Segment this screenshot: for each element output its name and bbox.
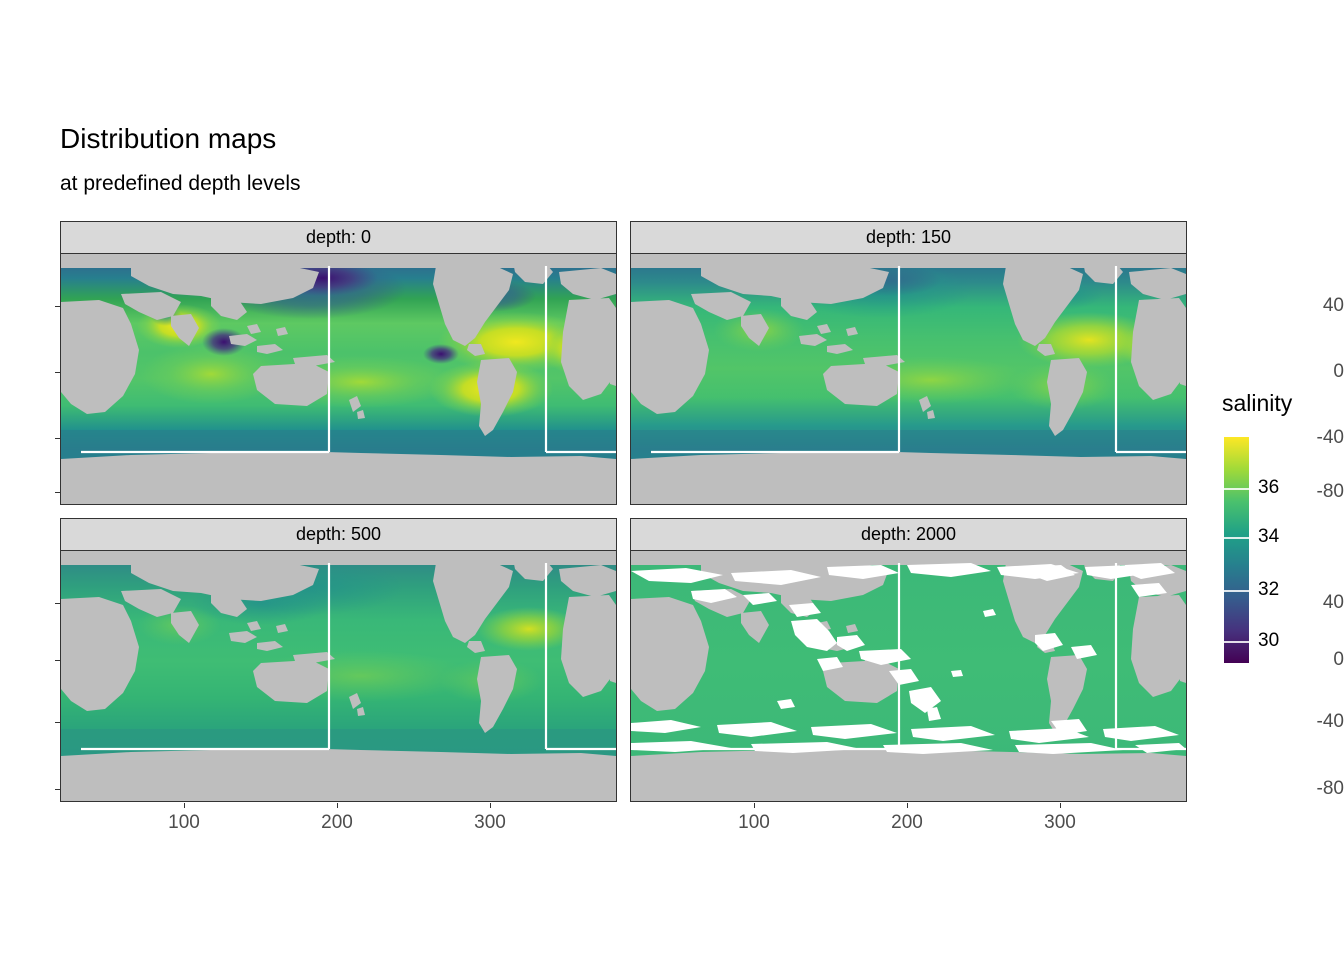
facet-panel-depth-2000: depth: 2000 xyxy=(630,518,1187,802)
page-title: Distribution maps xyxy=(60,125,276,153)
map-canvas-depth-0[interactable] xyxy=(60,254,617,505)
facet-strip-depth-150: depth: 150 xyxy=(630,221,1187,254)
y-tick-label: 0 xyxy=(1294,361,1344,383)
facet-strip-depth-2000: depth: 2000 xyxy=(630,518,1187,551)
y-tick-label: 0 xyxy=(1294,649,1344,671)
x-tick-mark xyxy=(1060,803,1061,808)
map-canvas-depth-2000[interactable] xyxy=(630,551,1187,802)
y-tick-label: 40 xyxy=(1294,592,1344,614)
legend-title: salinity xyxy=(1222,390,1292,417)
map-canvas-depth-500[interactable] xyxy=(60,551,617,802)
facet-strip-label: depth: 0 xyxy=(306,227,371,248)
x-tick-label: 100 xyxy=(738,812,770,834)
y-tick-label: 40 xyxy=(1294,295,1344,317)
legend-tick-label: 36 xyxy=(1258,477,1279,499)
y-tick-mark xyxy=(55,603,60,604)
x-tick-label: 100 xyxy=(168,812,200,834)
facet-strip-depth-0: depth: 0 xyxy=(60,221,617,254)
legend-tick-mark xyxy=(1224,537,1249,539)
y-tick-label: -80 xyxy=(1294,778,1344,800)
y-tick-mark xyxy=(55,660,60,661)
map-canvas-depth-150[interactable] xyxy=(630,254,1187,505)
map-svg-depth-2000 xyxy=(631,551,1186,800)
x-tick-mark xyxy=(754,803,755,808)
legend-tick-label: 32 xyxy=(1258,579,1279,601)
x-tick-label: 300 xyxy=(474,812,506,834)
x-tick-label: 200 xyxy=(891,812,923,834)
facet-strip-label: depth: 2000 xyxy=(861,524,956,545)
y-tick-label: -40 xyxy=(1294,711,1344,733)
y-tick-mark xyxy=(55,438,60,439)
map-svg-depth-0 xyxy=(61,254,616,503)
page-subtitle: at predefined depth levels xyxy=(60,173,301,194)
legend-tick-label: 30 xyxy=(1258,630,1279,652)
facet-strip-label: depth: 500 xyxy=(296,524,381,545)
plot-root: Distribution maps at predefined depth le… xyxy=(0,0,1344,960)
facet-strip-depth-500: depth: 500 xyxy=(60,518,617,551)
y-tick-mark xyxy=(55,789,60,790)
y-tick-mark xyxy=(55,306,60,307)
y-tick-label: -80 xyxy=(1294,481,1344,503)
facet-strip-label: depth: 150 xyxy=(866,227,951,248)
legend-tick-mark xyxy=(1224,590,1249,592)
map-svg-depth-150 xyxy=(631,254,1186,503)
legend-tick-mark xyxy=(1224,488,1249,490)
facet-panel-depth-0: depth: 0 xyxy=(60,221,617,505)
facet-panel-depth-500: depth: 500 xyxy=(60,518,617,802)
y-tick-mark xyxy=(55,722,60,723)
y-tick-mark xyxy=(55,492,60,493)
map-svg-depth-500 xyxy=(61,551,616,800)
x-tick-mark xyxy=(184,803,185,808)
x-tick-mark xyxy=(907,803,908,808)
x-tick-label: 300 xyxy=(1044,812,1076,834)
x-tick-mark xyxy=(490,803,491,808)
legend-colorbar[interactable] xyxy=(1224,437,1249,663)
legend-tick-label: 34 xyxy=(1258,526,1279,548)
legend-tick-mark xyxy=(1224,641,1249,643)
x-tick-label: 200 xyxy=(321,812,353,834)
x-tick-mark xyxy=(337,803,338,808)
y-tick-mark xyxy=(55,372,60,373)
facet-panel-depth-150: depth: 150 xyxy=(630,221,1187,505)
y-tick-label: -40 xyxy=(1294,427,1344,449)
